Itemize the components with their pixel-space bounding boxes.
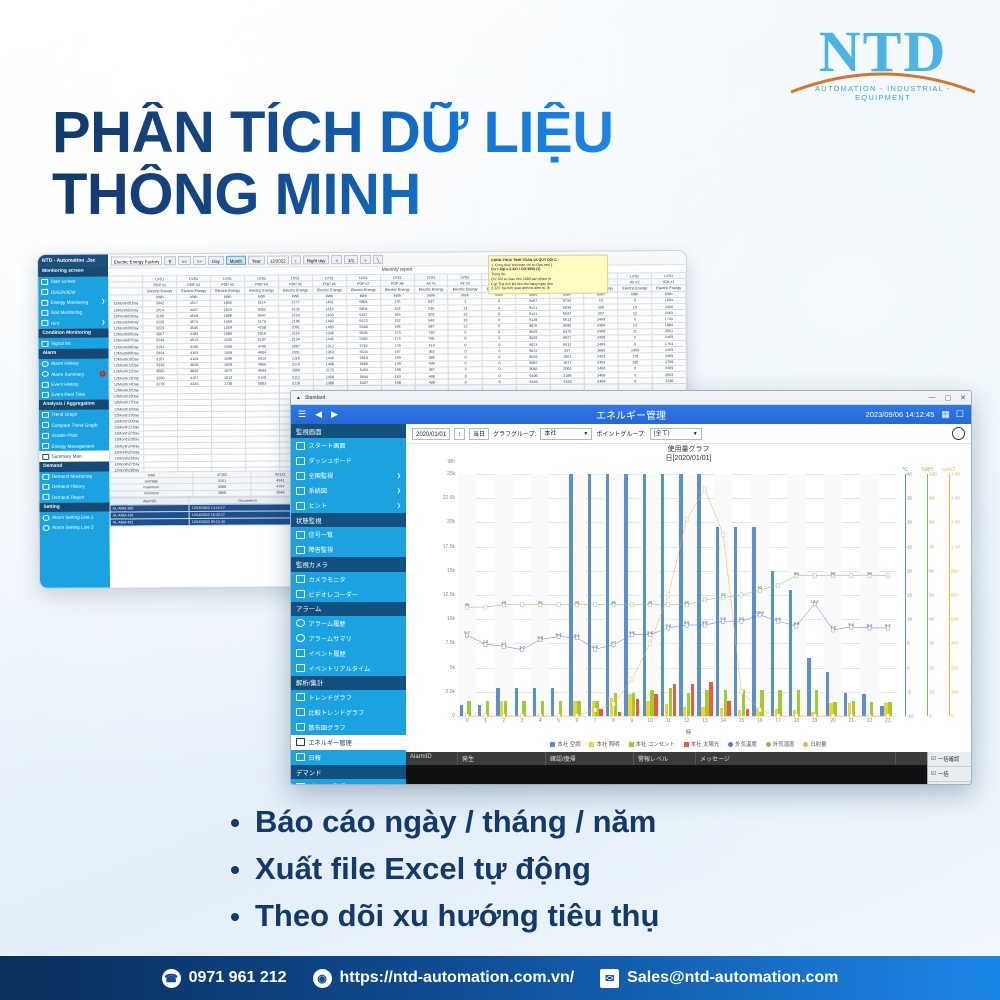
headline-line-1: PHÂN TÍCH DỮ LIỆU	[52, 102, 614, 164]
sidebar-item-label: スタート画面	[309, 441, 346, 450]
x-axis-tick: 20	[830, 718, 836, 724]
axis-tick: 15	[907, 593, 912, 598]
x-axis-tick: 11	[666, 718, 671, 724]
sidebar-item-label: トレンドグラフ	[309, 693, 352, 702]
y-axis-tick: 20k	[447, 519, 455, 525]
source-select[interactable]: Electric Energy Factory	[111, 256, 162, 265]
section-header: 状態監視	[291, 513, 406, 527]
axis-tick: -10	[907, 714, 914, 719]
x-axis-tick: 7	[594, 718, 597, 724]
sidebar-item-label: デマンド監視	[309, 782, 346, 785]
monitor-icon	[41, 310, 48, 316]
sidebar-item-label: 全国監視	[309, 471, 334, 480]
axis-tick: 1.6K	[951, 472, 960, 477]
legend-item[interactable]: 本社 コンセント	[629, 740, 675, 748]
chevron-right-icon: ❯	[101, 299, 105, 305]
legend-swatch	[728, 742, 733, 747]
section-header: Demand	[39, 461, 109, 471]
x-axis-tick: 13	[702, 718, 708, 724]
page-prev-button[interactable]: <	[331, 255, 342, 264]
bars-icon	[42, 484, 49, 490]
sidebar-item-label: ダッシュボード	[309, 456, 352, 465]
energy-icon	[296, 738, 305, 746]
axis-tick: 0	[951, 714, 954, 719]
point-group-value: (全て)	[654, 429, 670, 439]
y-axis-tick: 17.5k	[443, 544, 455, 550]
axis-tick: -5	[907, 689, 911, 694]
compare-icon	[296, 708, 305, 716]
legend-item[interactable]: 本社 太陽光	[684, 740, 719, 748]
axis-tick: 1.3K	[951, 520, 960, 525]
note-line-1: 1. Cong thuc tinh toan chi so Gas tren 1	[491, 263, 553, 267]
sidebar-item-label: Demand Report	[52, 495, 84, 500]
minimize-button[interactable]: —	[929, 394, 936, 402]
sidebar-item-demand-history[interactable]: Demand History	[39, 481, 109, 492]
y-axis-tick: 0	[452, 713, 455, 719]
sidebar-item-item[interactable]: イベントリアルタイム	[291, 661, 406, 676]
monitor-icon	[296, 472, 305, 480]
list-item: Báo cáo ngày / tháng / năm	[228, 798, 659, 845]
doc-icon	[42, 392, 49, 398]
sidebar-item-label: Hint	[51, 321, 59, 326]
recorder-icon	[296, 590, 305, 598]
os-window-buttons[interactable]: — ▢ ✕	[929, 394, 967, 402]
bulk-action-button[interactable]: ☑一括確認	[928, 752, 971, 767]
monitor-icon	[296, 442, 305, 450]
sidebar-item-label: Summary Man	[52, 454, 82, 459]
chart-legend: 本社 空調本社 照明本社 コンセント本社 太陽光外気温度外気湿度日射量	[406, 740, 971, 748]
section-header: Condition Monitoring	[38, 328, 108, 338]
check-icon: ☑	[931, 756, 936, 762]
demand-icon	[42, 474, 49, 480]
legend-swatch	[684, 742, 689, 747]
footer-email[interactable]: ✉ Sales@ntd-automation.com	[600, 969, 838, 988]
sidebar-item-alarm-summary[interactable]: Alarm Summary!	[39, 369, 109, 380]
monitor-icon	[41, 300, 48, 306]
energy-sidebar: 監視画面スタート画面ダッシュボード全国監視❯系統図❯ヒント❯状態監視信号一覧障害…	[291, 424, 406, 785]
legend-swatch	[589, 742, 594, 747]
y-axis-tick: 10k	[447, 616, 455, 622]
graph-group-label: グラフグループ:	[493, 429, 536, 438]
sidebar-item-scatter-plots[interactable]: Scatter Plots	[39, 430, 109, 441]
axis-tick: 960	[951, 568, 959, 573]
sidebar-item-item[interactable]: 系統図❯	[291, 483, 406, 498]
list-icon	[296, 531, 305, 539]
sidebar-item-item[interactable]: トレンドグラフ	[291, 690, 406, 705]
month-button[interactable]: Month	[226, 256, 246, 265]
chevron-down-icon: ▼	[583, 429, 588, 439]
sidebar-item-label: ビデオレコーダー	[309, 590, 359, 599]
website-url: https://ntd-automation.com.vn/	[340, 969, 575, 987]
sidebar-item-label: Start screen	[51, 279, 76, 284]
y-axis-tick: 2.5k	[446, 689, 455, 695]
summary-icon	[42, 453, 49, 459]
axis-tick: 35	[907, 496, 912, 501]
date-stepper[interactable]: ↕	[291, 255, 301, 264]
sidebar-item-label: Signal list	[51, 341, 71, 346]
year-button[interactable]: Year	[248, 256, 265, 265]
axis-tick: 100	[929, 472, 937, 477]
axis-tick: 40	[907, 472, 912, 477]
email-address: Sales@ntd-automation.com	[627, 969, 838, 987]
chevron-right-icon: ❯	[397, 488, 401, 494]
axis-tick: 25	[907, 544, 912, 549]
radio-icon	[43, 525, 50, 531]
sidebar-item-label: Alarm Setting Line 1	[52, 515, 93, 521]
clock-icon	[42, 361, 49, 367]
x-axis-tick: 1	[484, 718, 487, 724]
section-header: 監視画面	[291, 424, 406, 438]
sidebar-item-label: Alarm Summary	[51, 371, 84, 376]
grid-list-icon	[296, 546, 305, 554]
x-axis-tick: 6	[576, 718, 579, 724]
doc-icon	[296, 649, 305, 657]
axis-℃	[905, 474, 906, 716]
sidebar-item-label: 障害監視	[309, 545, 334, 554]
sidebar-item-event-history[interactable]: Event History	[39, 379, 109, 390]
y-axis-tick: 5k	[450, 665, 455, 671]
legend-item[interactable]: 外気温度	[728, 740, 757, 748]
grid-icon[interactable]: ▦	[941, 409, 950, 420]
row-label: 12Month28Day	[110, 468, 144, 472]
x-axis-tick: 4	[539, 718, 542, 724]
hamburger-icon[interactable]: ☰	[298, 409, 306, 420]
legend-item[interactable]: 本社 照明	[589, 740, 619, 748]
sidebar-item-label: Trend Graph	[51, 412, 77, 417]
sidebar-item-item[interactable]: ヒント❯	[291, 498, 406, 513]
sidebar-item-label: Gas Monitoring	[51, 310, 82, 315]
today-button[interactable]: 当日	[469, 428, 489, 440]
axis-%RH	[927, 474, 928, 716]
page-title: PHÂN TÍCH DỮ LIỆU THÔNG MINH	[52, 102, 614, 226]
sidebar-item-alarm-setting-line-2[interactable]: Alarm Setting Line 2	[40, 522, 110, 533]
legend-item[interactable]: 外気湿度	[766, 740, 795, 748]
close-button[interactable]: ✕	[960, 394, 966, 402]
energy-management-window: ▲ Standard — ▢ ✕ ☰ ◀ ▶ エネルギー管理 2023/09/0…	[290, 390, 972, 785]
alarm-cell: AL-ARM-431	[110, 518, 189, 525]
sidebar-item-label: カメラモニタ	[309, 575, 346, 584]
chevron-right-icon: ❯	[397, 473, 401, 479]
legend-label: 外気温度	[735, 742, 757, 748]
sidebar-item-start-screen[interactable]: Start screen	[38, 276, 108, 287]
legend-swatch	[803, 742, 808, 747]
axis-tick: 480	[951, 641, 959, 646]
contact-footer: ☎ 0971 961 212 ◉ https://ntd-automation.…	[0, 956, 1000, 1000]
section-header: Setting	[40, 502, 110, 512]
sidebar-item-item[interactable]: エネルギー管理	[291, 735, 406, 750]
sidebar-item-label: Demand Monitoring	[52, 474, 92, 480]
sidebar-item-item[interactable]: アラーム履歴	[291, 616, 406, 631]
sidebar-item-demand-monitoring[interactable]: Demand Monitoring	[39, 471, 109, 482]
scatter-icon	[42, 433, 49, 439]
x-axis-tick: 9	[630, 718, 633, 724]
x-axis-tick: 3	[521, 718, 524, 724]
date-input[interactable]: 12/2022	[267, 255, 289, 264]
trend-icon	[42, 412, 49, 418]
date-stepper[interactable]: ↕	[454, 428, 465, 440]
axis-tick: 60	[929, 568, 934, 573]
x-axis-tick: 16	[757, 718, 763, 724]
section-header: アラーム	[291, 602, 406, 616]
sidebar-item-item[interactable]: アラームサマリ	[291, 631, 406, 646]
monitor-icon	[296, 457, 305, 465]
x-axis-tick: 10	[647, 718, 653, 724]
sidebar-item-signal-list[interactable]: Signal list	[38, 338, 108, 349]
x-axis-tick: 18	[794, 718, 800, 724]
axis-tick: 1.4K	[951, 496, 960, 501]
sidebar-item-alarm-setting-line-1[interactable]: Alarm Setting Line 1	[40, 512, 110, 523]
screen-icon[interactable]: ☐	[956, 409, 964, 420]
sidebar-item-item[interactable]: 障害監視	[291, 542, 406, 557]
sidebar-item-item[interactable]: 日報	[291, 750, 406, 765]
sidebar-item-summary-man[interactable]: Summary Man	[39, 451, 109, 462]
sidebar-item-item[interactable]: 信号一覧	[291, 527, 406, 542]
chevron-right-icon: ❯	[101, 320, 105, 326]
usage-chart: 使用量グラフ 日[2020/01/01] 02.5k5k7.5k10k12.5k…	[406, 444, 971, 752]
camera-icon	[296, 575, 305, 583]
axis-tick: 40	[929, 617, 934, 622]
monitor-icon	[296, 502, 305, 510]
chart-date-input[interactable]: 2020/01/01	[412, 428, 450, 440]
chart-title: 使用量グラフ	[406, 446, 971, 455]
x-axis-tick: 23	[885, 718, 891, 724]
axis-tick: 20	[907, 568, 912, 573]
sidebar-item-item[interactable]: 散布図グラフ	[291, 720, 406, 735]
x-axis-tick: 15	[739, 718, 745, 724]
sidebar-item-label: Event Real Time	[51, 392, 85, 397]
sidebar-item-item[interactable]: イベント履歴	[291, 646, 406, 661]
x-axis-tick: 21	[848, 718, 854, 724]
axis-tick: 10	[929, 689, 934, 694]
sidebar-item-label: エネルギー管理	[309, 738, 352, 747]
phone-icon: ☎	[162, 969, 181, 988]
alarm-column: 確認/復帰	[546, 752, 634, 765]
monitor-icon	[41, 279, 48, 285]
sidebar-item-label: ヒント	[309, 501, 328, 510]
sidebar-item-label: Alarm History	[51, 361, 79, 366]
sidebar-item-energy-management[interactable]: Energy Management	[39, 441, 109, 452]
erp-app-title: NTD - Automation .Jsc	[38, 255, 108, 267]
os-title: Standard	[305, 395, 325, 401]
point-group-label: ポイントグループ:	[596, 429, 645, 438]
legend-item[interactable]: 日射量	[803, 740, 826, 748]
sidebar-item-label: 信号一覧	[309, 530, 334, 539]
check-icon: ☑	[931, 771, 936, 777]
chart-controls: 2020/01/01 ↕ 当日 グラフグループ: 本社 ▼ ポイントグループ: …	[406, 424, 971, 444]
axis-tick: 70	[929, 544, 934, 549]
alarm-panel: AlarmID発生確認/復帰警報レベルメッセージ ☑一括確認☑一括	[406, 752, 971, 785]
sidebar-item-item[interactable]: スタート画面	[291, 438, 406, 453]
clock-icon	[296, 634, 305, 642]
axis-tick: 0	[929, 714, 932, 719]
section-header: デマンド	[291, 765, 406, 779]
section-header: Analysis / Aggregation	[39, 400, 109, 410]
list-icon	[42, 341, 49, 347]
os-titlebar: ▲ Standard — ▢ ✕	[291, 391, 971, 405]
note-line-2: Trong do:	[491, 272, 506, 276]
formula-note: CONG THUC TINH TOAN VA QUY DOI C 1. Cong…	[488, 255, 608, 295]
legend-swatch	[550, 742, 555, 747]
y-axis-tick: 15k	[447, 568, 455, 574]
erp-sidebar: NTD - Automation .Jsc Monitoring screenS…	[38, 255, 110, 588]
summary-cell: 2800	[193, 490, 251, 497]
axis-tick: 5	[907, 641, 910, 646]
legend-label: 本社 空調	[557, 742, 580, 748]
sidebar-item-event-real-time[interactable]: Event Real Time	[39, 389, 109, 400]
app-titlebar: ☰ ◀ ▶ エネルギー管理 2023/09/06 14:12:45 ▦ ☐	[291, 405, 971, 424]
sidebar-item-label: 日報	[309, 753, 321, 762]
axis-tick: 50	[929, 593, 934, 598]
chevron-down-icon: ▼	[693, 429, 698, 439]
legend-label: 本社 照明	[596, 742, 619, 748]
x-axis-tick: 8	[612, 718, 615, 724]
y-axis-tick: 7.5k	[446, 640, 455, 646]
report-icon	[296, 753, 305, 761]
gear-icon[interactable]	[952, 427, 965, 440]
sidebar-item-label: 比較トレンドグラフ	[309, 708, 365, 717]
line-日射量	[458, 474, 897, 716]
sidebar-item-trend-graph[interactable]: Trend Graph	[39, 409, 109, 420]
clock-icon	[42, 371, 49, 377]
alarm-column: メッセージ	[696, 752, 896, 765]
bulk-action-button[interactable]: ☑一括	[928, 767, 971, 782]
axis-tick: 800	[951, 593, 959, 598]
legend-label: 本社 太陽光	[691, 742, 719, 748]
footer-phone[interactable]: ☎ 0971 961 212	[162, 969, 287, 988]
demand-icon	[296, 783, 305, 785]
note-line-3: Cn: Chi so Gas tren 1000 san pham (k	[491, 277, 551, 281]
legend-swatch	[766, 742, 771, 747]
sidebar-item-alarm-history[interactable]: Alarm History	[39, 358, 109, 369]
headline-line-2: THÔNG MINH	[52, 164, 614, 226]
scatter-icon	[296, 723, 305, 731]
alarm-column: 発生	[458, 752, 546, 765]
energy-icon	[42, 443, 49, 449]
trend-icon	[296, 693, 305, 701]
alert-badge: !	[100, 371, 106, 377]
mail-icon: ✉	[600, 969, 619, 988]
globe-icon: ◉	[313, 969, 332, 988]
axis-tick: 30	[929, 641, 934, 646]
section-header: Alarm	[39, 348, 109, 358]
os-doc-icon: ▲	[296, 395, 301, 401]
sidebar-item-overview[interactable]: OVERVIEW	[38, 287, 108, 298]
report-icon	[42, 494, 49, 500]
doc-icon	[42, 381, 49, 387]
axis-tick: 1.1K	[951, 544, 960, 549]
sidebar-item-label: Demand History	[52, 484, 85, 489]
legend-item[interactable]: 本社 空調	[550, 740, 580, 748]
monitor-icon	[296, 487, 305, 495]
x-axis-tick: 19	[812, 718, 818, 724]
sidebar-item-label: Alarm Setting Line 2	[52, 525, 93, 531]
monitor-icon	[41, 289, 48, 295]
sidebar-item-hint[interactable]: Hint❯	[38, 318, 108, 329]
clock-icon	[296, 619, 305, 627]
chart-plot-area: 02.5k5k7.5k10k12.5k15k17.5k20k22.5k25kWh…	[458, 474, 897, 716]
chart-icon[interactable]: ╲	[373, 255, 384, 264]
radio-icon	[43, 515, 50, 521]
legend-swatch	[629, 742, 634, 747]
y-axis-tick: 12.5k	[443, 592, 455, 598]
section-header: Monitoring screen	[38, 267, 108, 277]
axis-tick: 80	[929, 520, 934, 525]
back-arrow-icon[interactable]: ◀	[315, 409, 322, 420]
brand-logo: NTD AUTOMATION - INDUSTRIAL - EQUIPMENT	[788, 22, 978, 108]
sidebar-item-item[interactable]: ダッシュボード	[291, 453, 406, 468]
section-header: 監視カメラ	[291, 557, 406, 571]
sidebar-item-label: Event History	[51, 382, 78, 387]
axis-tick: 0	[907, 665, 910, 670]
summary-label: minimum	[110, 490, 193, 497]
sidebar-item-label: イベント履歴	[309, 649, 346, 658]
sidebar-item-energy-monitoring[interactable]: Energy Monitoring❯	[38, 297, 108, 308]
chart-xlabel: 時	[406, 728, 971, 736]
maximize-button[interactable]: ▢	[945, 394, 952, 402]
phone-number: 0971 961 212	[189, 969, 287, 987]
next-button[interactable]: >>	[193, 256, 206, 265]
sidebar-item-compare-trend-graph[interactable]: Compare Trend Graph	[39, 420, 109, 431]
axis-tick: 160	[951, 689, 959, 694]
note-line-5: 2.321: Da tinh quar dinh he dien tu, (k	[491, 286, 550, 290]
doc-icon	[296, 664, 305, 672]
energy-content: 2020/01/01 ↕ 当日 グラフグループ: 本社 ▼ ポイントグループ: …	[406, 424, 971, 785]
forward-arrow-icon[interactable]: ▶	[331, 409, 338, 420]
x-axis-tick: 0	[466, 718, 469, 724]
chevron-right-icon: ❯	[397, 503, 401, 509]
page-indicator: 1/1	[344, 255, 358, 264]
sidebar-item-item[interactable]: 全国監視❯	[291, 468, 406, 483]
alarm-header: AlarmID発生確認/復帰警報レベルメッセージ	[406, 752, 971, 765]
list-item: Theo dõi xu hướng tiêu thụ	[228, 892, 659, 939]
legend-label: 外気湿度	[773, 742, 795, 748]
x-axis-tick: 14	[720, 718, 726, 724]
axis-tick: 640	[951, 617, 959, 622]
sidebar-item-item[interactable]: ビデオレコーダー	[291, 587, 406, 602]
alarm-column: 警報レベル	[634, 752, 696, 765]
prev-button[interactable]: <<	[178, 256, 191, 265]
point-group-select[interactable]: (全て) ▼	[650, 428, 702, 440]
sidebar-item-gas-monitoring[interactable]: Gas Monitoring	[38, 307, 108, 318]
footer-website[interactable]: ◉ https://ntd-automation.com.vn/	[313, 969, 575, 988]
sidebar-item-label: Compare Trend Graph	[52, 422, 98, 428]
axis-tick: 30	[907, 520, 912, 525]
sidebar-item-label: 系統図	[309, 486, 328, 495]
monitor-icon	[41, 320, 48, 326]
sidebar-item-label: Scatter Plots	[52, 433, 78, 438]
y-axis-label: Wh	[448, 459, 456, 465]
sidebar-item-label: アラーム履歴	[309, 619, 346, 628]
alarm-column: AlarmID	[406, 752, 458, 765]
graph-group-value: 本社	[544, 429, 556, 439]
sidebar-item-demand-report[interactable]: Demand Report	[39, 492, 109, 503]
day-button[interactable]: Day	[208, 256, 224, 265]
note-line-4: Cgi: Tha tich khi tieu thu hang ngay don	[491, 281, 553, 285]
axis-tick: 90	[929, 496, 934, 501]
note-formula: Cn = Cgi x 2.321 / CO²1000 (1)	[491, 267, 605, 272]
graph-group-select[interactable]: 本社 ▼	[540, 428, 592, 440]
search-icon[interactable]: ⚲	[164, 256, 175, 265]
sidebar-item-item[interactable]: 比較トレンドグラフ	[291, 705, 406, 720]
y-axis-tick: 22.5k	[443, 495, 455, 501]
sidebar-item-item[interactable]: デマンド監視	[291, 779, 406, 785]
sidebar-item-item[interactable]: カメラモニタ	[291, 572, 406, 587]
clock-display: 2023/09/06 14:12:45	[866, 410, 935, 419]
sidebar-item-label: Energy Monitoring	[51, 300, 88, 306]
section-header: 解析/集計	[291, 676, 406, 690]
alarm-cell: 12/16/2022 09:12:49	[189, 518, 306, 526]
page-next-button[interactable]: >	[360, 255, 371, 264]
